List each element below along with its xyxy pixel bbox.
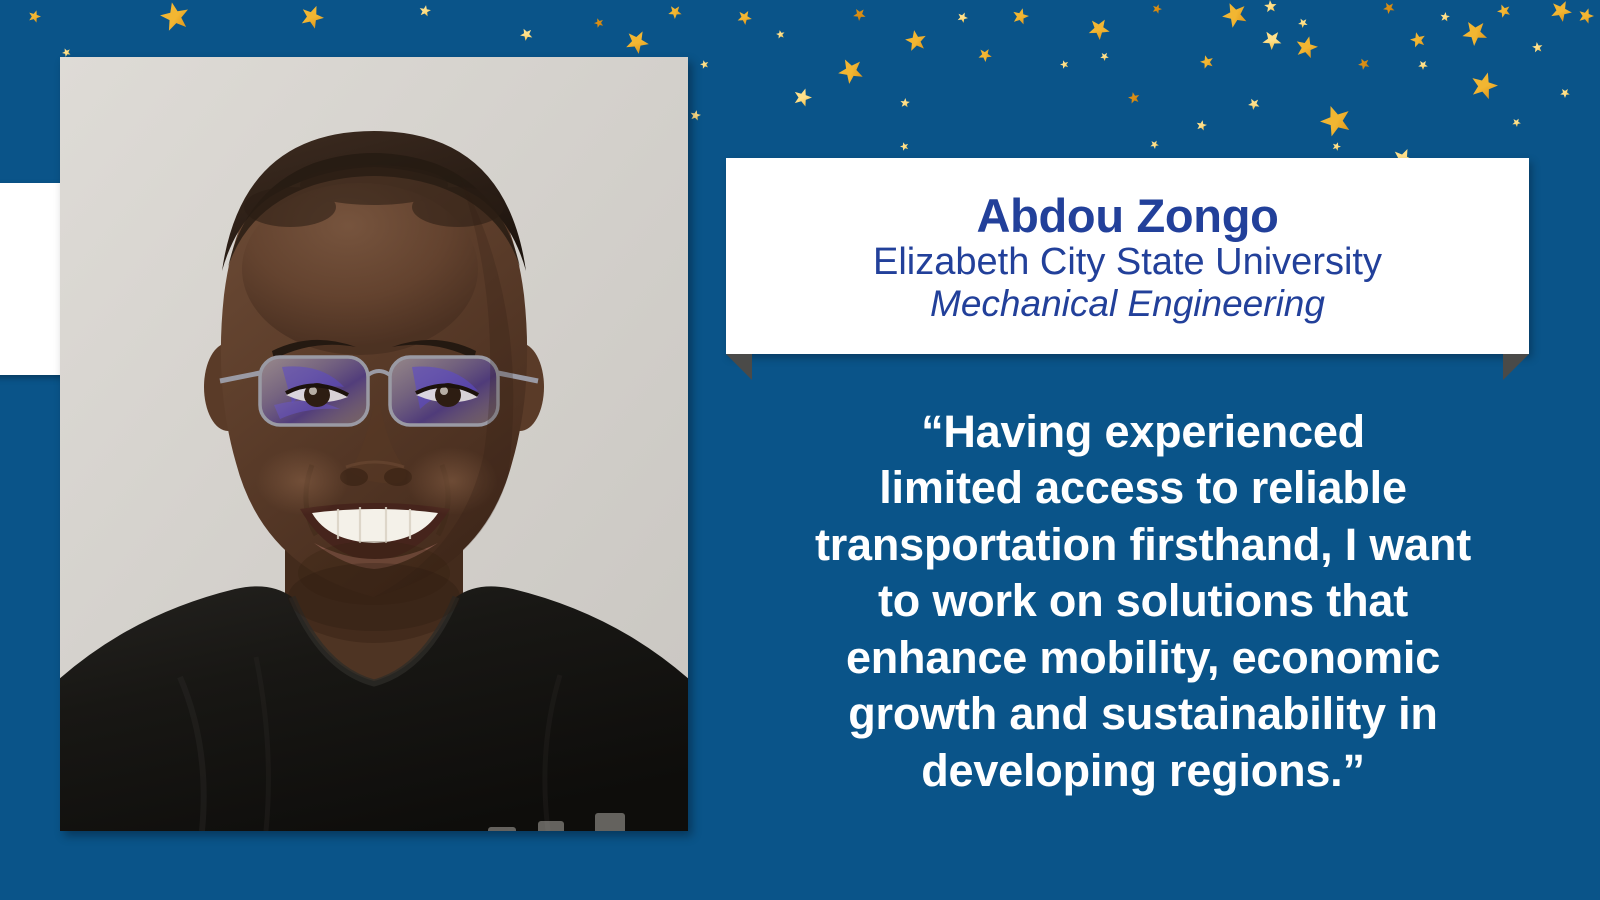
person-major: Mechanical Engineering xyxy=(930,283,1325,324)
quote-line: limited access to reliable xyxy=(790,460,1496,516)
person-name: Abdou Zongo xyxy=(976,191,1278,240)
banner-fold-right xyxy=(1503,354,1529,380)
person-school: Elizabeth City State University xyxy=(873,241,1382,284)
quote-line: developing regions.” xyxy=(790,743,1496,799)
banner-fold-left xyxy=(726,354,752,380)
quote-line: growth and sustainability in xyxy=(790,686,1496,742)
quote-line: enhance mobility, economic xyxy=(790,630,1496,686)
quote-line: “Having experienced xyxy=(790,404,1496,460)
name-banner: Abdou Zongo Elizabeth City State Univers… xyxy=(726,158,1529,354)
quote-text: “Having experiencedlimited access to rel… xyxy=(790,404,1496,799)
poster-canvas: Abdou Zongo Elizabeth City State Univers… xyxy=(0,0,1600,900)
quote-line: to work on solutions that xyxy=(790,573,1496,629)
portrait-photo xyxy=(60,57,688,831)
ribbon-left-stub xyxy=(0,183,62,375)
quote-line: transportation firsthand, I want xyxy=(790,517,1496,573)
